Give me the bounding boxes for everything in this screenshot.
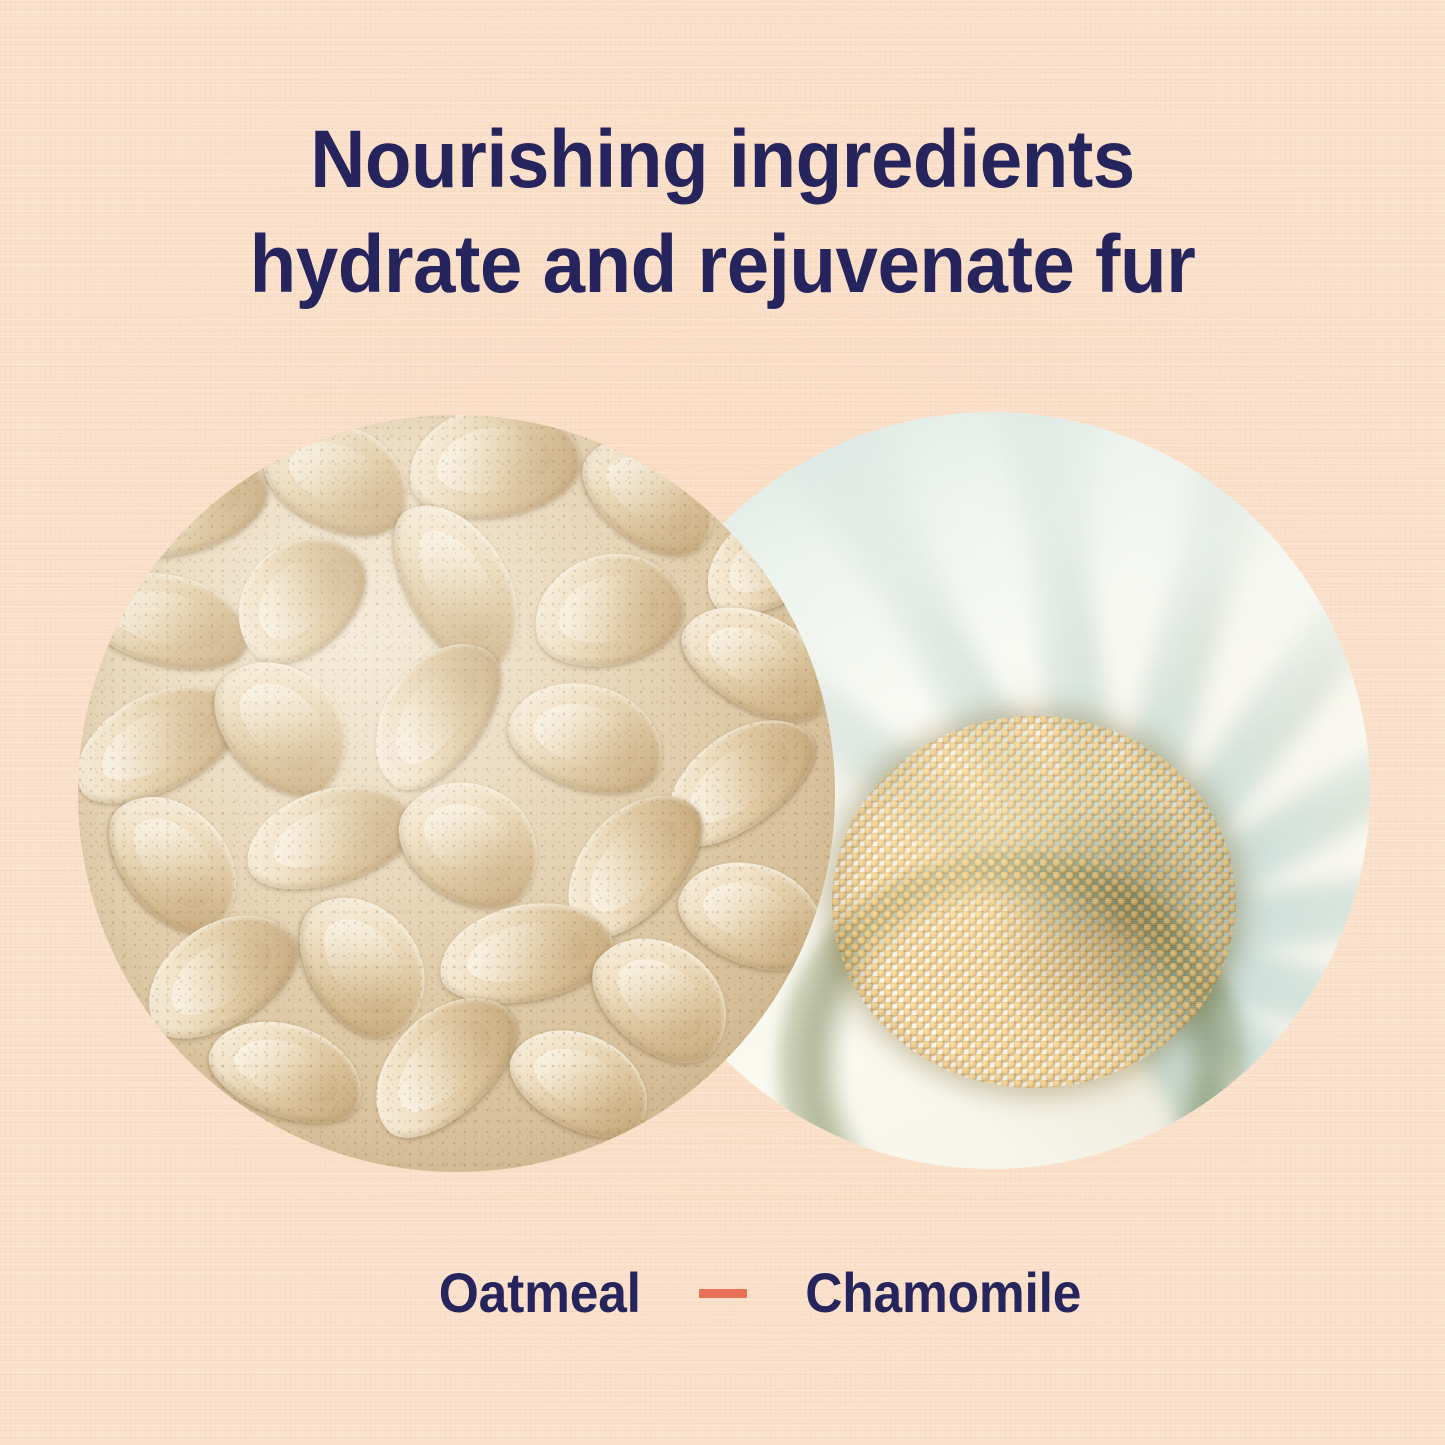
oatmeal-shading [78, 415, 835, 1172]
page-title: Nourishing ingredients hydrate and rejuv… [51, 108, 1395, 318]
ingredient-feature-poster: Nourishing ingredients hydrate and rejuv… [0, 0, 1445, 1445]
headline-line-2: hydrate and rejuvenate fur [51, 213, 1395, 318]
ingredient-label-chamomile: Chamomile [805, 1265, 1201, 1321]
headline-line-1: Nourishing ingredients [51, 108, 1395, 213]
ingredient-label-row: Oatmeal Chamomile [0, 1265, 1445, 1321]
oatmeal-artwork [78, 415, 835, 1172]
oatmeal-photo [78, 415, 835, 1172]
ingredient-label-oatmeal: Oatmeal [245, 1265, 641, 1321]
dash-icon [699, 1289, 747, 1298]
label-separator [658, 1289, 788, 1298]
